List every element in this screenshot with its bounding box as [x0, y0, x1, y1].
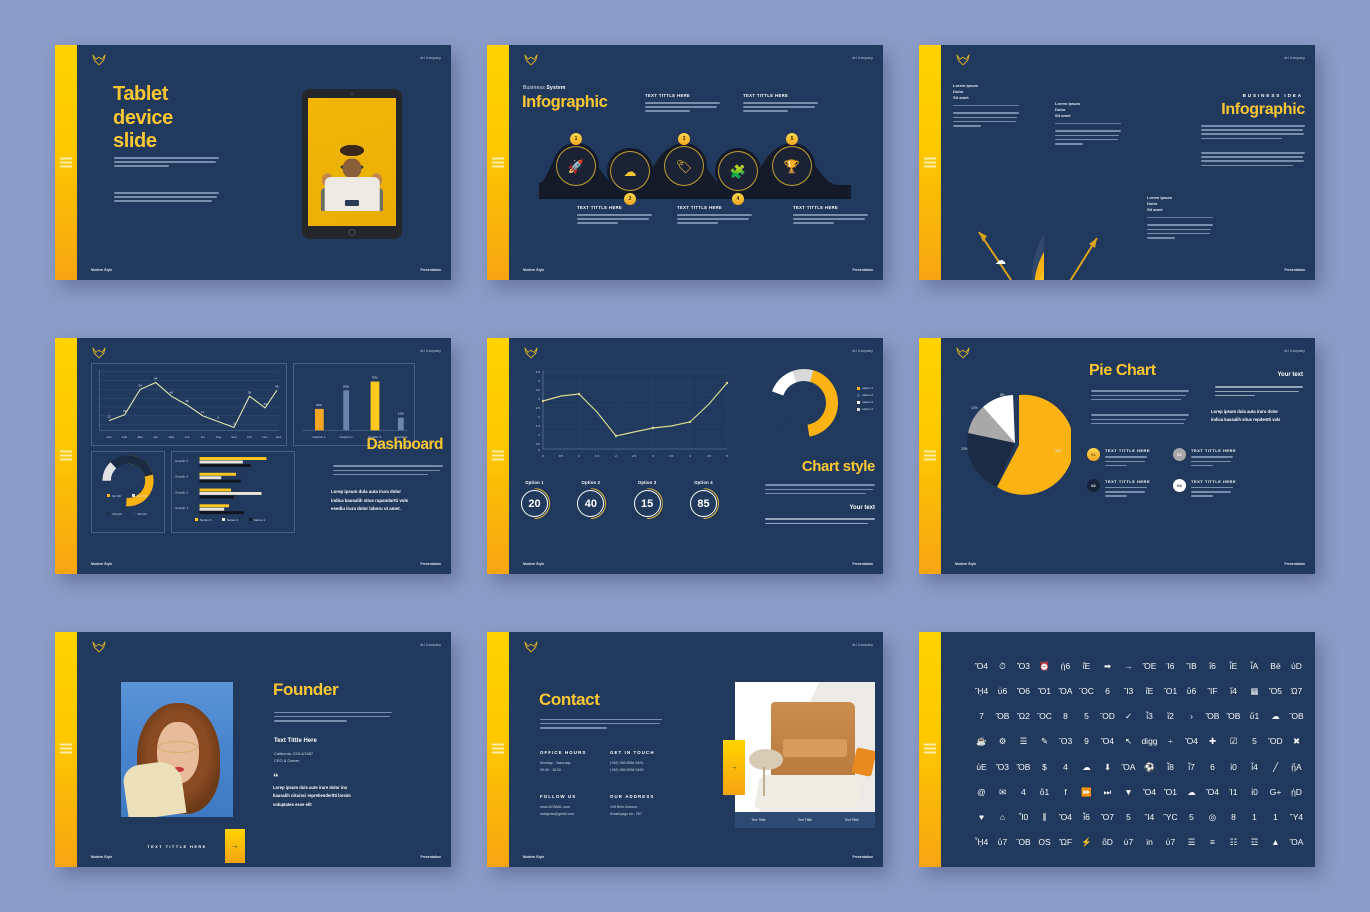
svg-text:23: 23 [263, 402, 267, 406]
slide-chart-style[interactable]: Art Company [487, 338, 883, 573]
badge-dark: 02 [1087, 479, 1100, 492]
app-window-icon[interactable]: Ὕ4 [1290, 813, 1303, 822]
badge-yellow: 01 [1087, 448, 1100, 461]
caption-top-1: TEXT TITTLE HERE [645, 93, 723, 115]
svg-text:Jul: Jul [201, 435, 205, 439]
node-number-1: 1 [570, 133, 582, 145]
ios-icon[interactable]: OS [1038, 838, 1050, 847]
image-mountain-icon[interactable]: Ἵ4 [1145, 813, 1155, 822]
label-block-2: Lorem ipsumDolorSit amet [1055, 101, 1121, 147]
coffee-cup-icon[interactable]: ☕ [976, 737, 987, 746]
download-file-icon[interactable]: ὎5 [1252, 737, 1257, 746]
globe-refresh-icon[interactable]: ἱ0 [1230, 763, 1237, 772]
hamburger-menu-icon[interactable] [924, 744, 936, 755]
wrench-icon[interactable]: ὒ7 [998, 838, 1007, 847]
pencil-icon[interactable]: ╱ [1273, 763, 1278, 772]
icon-library-grid[interactable]: Ὄ4⏱Ὄ3⏰ᾑ6ἴE➡→ὌEἹ6ἽBἵ6ἷEἷABēὐDᾛ4ὑ6Ὅ6Ὅ1ὍAὋC… [971, 654, 1307, 855]
chart-style-donut-chart [765, 364, 843, 442]
svg-text:0: 0 [542, 454, 544, 458]
note-file-icon[interactable]: Ὄ3 [996, 763, 1009, 772]
pie-item-1[interactable]: 01 TEXT TITTLE HERE [1087, 448, 1161, 469]
option-stat-3[interactable]: Option 3 15 [634, 480, 661, 517]
caption-title: TEXT TITTLE HERE [577, 205, 655, 210]
hamburger-menu-icon[interactable] [60, 450, 72, 461]
grid-blocks-icon[interactable]: ▦ [1250, 687, 1258, 696]
option-stats-row: Option 1 20 Option 2 40 Option 3 15 Opti… [521, 480, 717, 517]
ice-cream-icon[interactable]: ἶ6 [1083, 813, 1090, 822]
header-company: Art Company [852, 349, 873, 353]
open-book-icon[interactable]: Ὅ6 [1017, 687, 1030, 696]
list-ordered-icon[interactable]: ≡ [1210, 838, 1215, 847]
footer-right: Presentation [852, 268, 873, 272]
arrow-right-icon[interactable]: → [225, 829, 245, 863]
clipboard-file-icon[interactable]: ὌB [996, 712, 1010, 721]
clock-24h-icon[interactable]: ⏱ [999, 662, 1006, 671]
label-title: Lorem ipsumDolorSit amet [1055, 101, 1121, 118]
svg-text:May: May [169, 435, 175, 439]
document-icon[interactable]: Ὄ3 [1017, 662, 1030, 671]
thumbs-up-icon[interactable]: ὄD [1102, 838, 1113, 847]
svg-text:Dec: Dec [276, 435, 282, 439]
briefcase-icon[interactable]: ὋC [1079, 687, 1094, 696]
chain-link-icon[interactable]: ὑ7 [1166, 838, 1175, 847]
footer-right: Presentation [1284, 562, 1305, 566]
header-company: Art Company [1284, 56, 1305, 60]
svg-text:5: 5 [726, 454, 728, 458]
pdf-file-icon[interactable]: Ὄ4 [975, 662, 988, 671]
skip-forward-icon[interactable]: ⏭ [1104, 788, 1112, 797]
interior-sofa-photo [735, 682, 875, 812]
body-paragraph-1 [1201, 125, 1305, 142]
medical-file-icon[interactable]: ✚ [1209, 737, 1216, 746]
android-icon[interactable]: ᾑ6 [1061, 662, 1070, 671]
svg-text:4: 4 [538, 379, 540, 383]
gif-file-icon[interactable]: Ὄ4 [1206, 788, 1219, 797]
download-icon[interactable]: ⬇ [1104, 763, 1111, 772]
hamburger-menu-icon[interactable] [924, 157, 936, 168]
header-company: Art Company [1284, 349, 1305, 353]
layers-icon[interactable]: ⫼ [1043, 813, 1047, 822]
export-icon[interactable]: ὎4 [1021, 788, 1026, 797]
antelope-head-logo [523, 641, 539, 655]
founder-portrait-photo [121, 682, 233, 817]
dropbox-icon[interactable]: ὎6 [1210, 763, 1215, 772]
cherry-icon[interactable]: ἵ2 [1167, 712, 1174, 721]
facebook-icon[interactable]: f [1064, 788, 1066, 797]
contact-block-follow-us: FOLLOW US www.DOMAIL.com mailynda@gmail.… [540, 794, 600, 818]
caption-title: TEXT TITTLE HERE [677, 205, 755, 210]
instagram-icon[interactable]: ὏8 [1231, 813, 1236, 822]
home-icon[interactable]: ⌂ [1000, 813, 1005, 822]
monitor-icon[interactable]: ὚5 [1126, 813, 1131, 822]
footer-left: Modern Style [91, 562, 112, 566]
speech-bubble-icon[interactable]: ὊD [1100, 712, 1115, 721]
body-paragraph-2 [1201, 152, 1305, 169]
lightning-icon[interactable]: ⚡ [1081, 838, 1092, 847]
lightbulb-idea-icon[interactable]: Ὂ1 [1164, 687, 1177, 696]
pie-label-22: 22% [961, 447, 968, 451]
calculator-icon[interactable]: ὚9 [1084, 737, 1089, 746]
svg-text:2.5: 2.5 [632, 454, 637, 458]
alarm-clock-icon[interactable]: ⏰ [1039, 662, 1050, 671]
antelope-head-logo [91, 641, 107, 655]
footer-left: Modern Style [91, 855, 112, 859]
option-stat-4[interactable]: Option 4 85 [690, 480, 717, 517]
svg-text:45: 45 [170, 391, 174, 395]
sub-title: Text Tittle Here [274, 738, 317, 744]
slide-founder[interactable]: Art Company TEXT TITTLE HERE → Founder T… [55, 632, 451, 867]
contact-blocks: OFFICE HOURS Monday - Saturday 09.00 - 1… [540, 750, 670, 819]
divide-icon[interactable]: ÷ [1168, 737, 1173, 746]
dashboard-donut-chart: 1st Qtr 2nd Qtr 3rd Qtr 4th Qtr [91, 451, 165, 533]
award-badge-icon[interactable]: Ἱ6 [1167, 662, 1175, 671]
inbox-icon[interactable]: ὎5 [1189, 813, 1194, 822]
hamburger-menu-icon[interactable] [60, 157, 72, 168]
left-accent-bar [919, 338, 941, 573]
block-line: 109 Bnin Avenue, [610, 804, 670, 811]
tablet-screen [308, 98, 396, 226]
binoculars-icon[interactable]: ὐD [1291, 662, 1302, 671]
slide-dashboard[interactable]: Art Company 122354 [55, 338, 451, 573]
kicker-bold: System [546, 85, 565, 91]
ribbon-bookmark-icon[interactable]: Ὅ1 [1038, 687, 1051, 696]
house-icon[interactable]: Ἶ0 [1019, 813, 1029, 822]
svg-text:Nov: Nov [262, 435, 268, 439]
caption-title: TEXT TITTLE HERE [793, 205, 871, 210]
bank-icon[interactable]: ἽB [1186, 662, 1197, 671]
signature-file-icon[interactable]: ὍD [1268, 737, 1282, 746]
svg-text:0.5: 0.5 [559, 454, 564, 458]
id-card-icon[interactable]: Ὄ7 [1101, 813, 1114, 822]
page-title: Tablet device slide [113, 83, 173, 154]
sub-details: California, 03/14/1987 CEO & Owner [274, 750, 313, 765]
chef-hat-icon[interactable]: ἷ3 [1146, 712, 1153, 721]
body-paragraph-2 [765, 518, 875, 526]
chat-window-icon[interactable]: ὚5 [1084, 712, 1089, 721]
checklist-file-icon[interactable]: ☑ [1230, 737, 1238, 746]
handshake-icon[interactable]: ᾑD [1291, 788, 1302, 797]
martini-icon[interactable]: ἷ7 [1188, 763, 1195, 772]
option-value: 20 [521, 490, 548, 517]
cloud-download-icon[interactable]: ☁ [1082, 763, 1091, 772]
slide-icon-library[interactable]: Ὄ4⏱Ὄ3⏰ᾑ6ἴE➡→ὌEἹ6ἽBἵ6ἷEἷABēὐDᾛ4ὑ6Ὅ6Ὅ1ὍAὋC… [919, 632, 1315, 867]
calendar-icon[interactable]: Ὄ5 [1269, 687, 1282, 696]
svg-text:Jan: Jan [107, 435, 112, 439]
option-value: 15 [634, 490, 661, 517]
svg-text:9: 9 [217, 416, 219, 420]
tablet-home-button [349, 229, 356, 236]
footer-right: Presentation [1284, 268, 1305, 272]
bottle-icon[interactable]: ἷE [1230, 662, 1238, 671]
bookmark-icon[interactable]: ὑ6 [998, 687, 1007, 696]
hamburger-menu-icon[interactable] [492, 744, 504, 755]
folder-icon[interactable]: Ὄ1 [1164, 788, 1177, 797]
svg-text:3.5: 3.5 [669, 454, 674, 458]
highlight-text: Lorep ipsum dula auta irura dolorindica … [331, 488, 443, 513]
document-lines-icon[interactable]: Ὄ4 [1101, 737, 1114, 746]
clipboard-blank-icon[interactable]: ὌB [1227, 712, 1241, 721]
header-company: Art Company [852, 56, 873, 60]
block-line[interactable]: mailynda@gmail.com [540, 811, 600, 818]
pie-label-8: 8% [1000, 393, 1005, 397]
thumb-label[interactable]: Text Tittle [751, 818, 765, 822]
svg-text:Oct: Oct [247, 435, 252, 439]
page-title: Infographic [1221, 101, 1305, 119]
laptop-icon[interactable]: ὋB [1016, 838, 1030, 847]
sub-line-1: California, 03/14/1987 [274, 750, 313, 758]
antelope-head-logo [91, 347, 107, 361]
dollar-icon[interactable]: $ [1042, 763, 1047, 772]
item-title: TEXT TITTLE HERE [1191, 479, 1236, 484]
pie-item-3[interactable]: 02 TEXT TITTLE HERE [1087, 479, 1161, 500]
node-number-5: 5 [786, 133, 798, 145]
svg-text:17: 17 [201, 410, 205, 414]
html-file-icon[interactable]: Ὄ4 [1059, 813, 1072, 822]
box-icon[interactable]: ὎6 [1105, 687, 1110, 696]
item-title: TEXT TITTLE HERE [1191, 448, 1236, 453]
arrow-right-thin-icon[interactable]: → [1124, 662, 1133, 671]
svg-text:Graphic 2: Graphic 2 [340, 435, 353, 439]
slide-pie-chart[interactable]: Art Company 58% 22% 12% 8% Pie Chart [919, 338, 1315, 573]
edit-square-icon[interactable]: ✎ [1041, 737, 1048, 746]
svg-text:Graphic 3: Graphic 3 [175, 475, 189, 479]
book-pages-icon[interactable]: ὍA [1059, 687, 1073, 696]
trophy-icon: 🏆 [784, 160, 800, 173]
chat-bubbles-icon[interactable]: ὞8 [1063, 712, 1068, 721]
block-line[interactable]: (+62) 085 8998 3455 [610, 767, 670, 774]
list-dots-icon[interactable]: ☷ [1230, 838, 1238, 847]
left-accent-bar [487, 45, 509, 280]
pie-item-4[interactable]: 04 TEXT TITTLE HERE [1173, 479, 1247, 500]
photo-icon[interactable]: ὛC [1163, 813, 1177, 822]
record-icon[interactable]: ◎ [1209, 813, 1216, 822]
node-4[interactable]: 🧩 [718, 151, 758, 191]
heart-icon[interactable]: ♥ [979, 813, 984, 822]
slide-business-idea-infographic[interactable]: Art Company ☁ [919, 45, 1315, 280]
donut-legend: option 1 option 2 option 3 option 4 [857, 386, 879, 411]
svg-text:Graphic 4: Graphic 4 [175, 459, 189, 463]
svg-text:1: 1 [578, 454, 580, 458]
puzzle-icon: 🧩 [730, 165, 746, 178]
svg-text:Graphic 2: Graphic 2 [175, 491, 189, 495]
doc-file-icon[interactable]: Ὄ4 [1185, 737, 1198, 746]
badge-gray: 01 [1173, 448, 1186, 461]
footer-left: Modern Style [523, 268, 544, 272]
caption-bottom-1: TEXT TITTLE HERE [577, 205, 655, 227]
inbox-download-icon[interactable]: ὎4 [1063, 763, 1068, 772]
hamburger-menu-icon[interactable] [924, 450, 936, 461]
svg-text:Jun: Jun [185, 435, 190, 439]
eye-icon[interactable]: ὄ1 [1040, 788, 1049, 797]
side-highlight: Lorep ipsum dula auta iruro dolorindica … [1211, 408, 1303, 424]
bowling-pin-icon[interactable]: Ἳ3 [1124, 687, 1134, 696]
footer-left: Modern Style [523, 855, 544, 859]
chevron-right-icon[interactable]: › [1190, 712, 1193, 721]
behance-icon[interactable]: Bē [1270, 662, 1280, 671]
svg-text:Mar: Mar [138, 435, 143, 439]
slide-kicker: Business System [523, 85, 565, 91]
lightbulb-icon[interactable]: ὒ6 [1187, 687, 1196, 696]
pie-legend-items: 01 TEXT TITTLE HERE 01 TEXT TITTLE HERE [1087, 448, 1247, 499]
pdf-doc-icon[interactable]: Ὄ4 [1143, 788, 1156, 797]
envelope-file-icon[interactable]: ✉ [999, 788, 1006, 797]
pie-item-2[interactable]: 01 TEXT TITTLE HERE [1173, 448, 1247, 469]
header-company: Art Company [420, 56, 441, 60]
svg-text:3.5: 3.5 [536, 388, 541, 392]
left-accent-bar [55, 338, 77, 573]
block-line: Monday - Saturday [540, 760, 600, 767]
excel-file-icon[interactable]: ✖ [1293, 737, 1300, 746]
egg-icon[interactable]: ᾕA [1291, 763, 1301, 772]
block-heading: OUR ADDRESS [610, 794, 670, 799]
chat-bubble-icon[interactable]: ὊC [1037, 712, 1052, 721]
page-title: Chart style [802, 458, 875, 475]
dribbble-icon[interactable]: ⚽ [1144, 763, 1155, 772]
gift-icon[interactable]: Ἰ1 [1230, 788, 1238, 797]
body-paragraph-2 [1091, 414, 1189, 427]
svg-text:1: 1 [538, 433, 540, 437]
sub-line-2: CEO & Owner [274, 757, 313, 765]
block-line[interactable]: www.DOMAIL.com [540, 804, 600, 811]
svg-text:3: 3 [652, 454, 654, 458]
block-heading: FOLLOW US [540, 794, 600, 799]
page-title: Dashboard [367, 436, 443, 454]
svg-text:2: 2 [538, 415, 540, 419]
car-icon[interactable]: Ὡ7 [1291, 687, 1303, 696]
block-line: 09.00 - 18.00 [540, 767, 600, 774]
barbecue-icon[interactable]: ἵ6 [1209, 662, 1216, 671]
svg-text:22%: 22% [316, 403, 322, 407]
dashboard-bar-chart: 22%63% 75%12% Graphic 1Graphic 2 Graphic… [293, 363, 415, 446]
thumb-label[interactable]: Text Tittle [844, 818, 858, 822]
footer-right: Presentation [852, 562, 873, 566]
report-file-icon[interactable]: ὌB [1017, 763, 1031, 772]
node-number-3: 3 [678, 133, 690, 145]
left-accent-bar [919, 632, 941, 867]
arrow-right-icon[interactable]: → [723, 740, 745, 795]
antelope-head-logo [955, 54, 971, 68]
shopping-cart-icon[interactable]: Ὥ2 [1017, 712, 1030, 721]
perfume-bottle-icon[interactable]: ᾟ4 [975, 838, 988, 847]
option-stat-1[interactable]: Option 1 20 [521, 480, 548, 517]
photo-caption: TEXT TITTLE HERE [121, 837, 233, 857]
credit-card-icon[interactable]: Ὃ3 [1059, 737, 1072, 746]
smartphone-icon[interactable]: ὏1 [1273, 813, 1278, 822]
hamburger-menu-icon[interactable] [60, 744, 72, 755]
burger-icon[interactable]: ἵ4 [1230, 687, 1237, 696]
bread-icon[interactable]: ἵE [1146, 687, 1154, 696]
filter-icon[interactable]: ▼ [1124, 788, 1132, 797]
footer-left: Modern Style [523, 562, 544, 566]
svg-text:12%: 12% [398, 412, 404, 416]
list-lines-icon[interactable]: ☰ [1020, 737, 1028, 746]
lifebuoy-icon[interactable]: ὭF [1059, 838, 1072, 847]
body-paragraph-1 [765, 484, 875, 497]
header-company: Art Company [420, 643, 441, 647]
cloud-icon[interactable]: ☁ [1271, 712, 1280, 721]
item-title: TEXT TITTLE HERE [1105, 448, 1150, 453]
globe-icon[interactable]: ἱ0 [1251, 788, 1258, 797]
left-accent-bar [55, 632, 77, 867]
camera-icon[interactable]: ὏7 [979, 712, 984, 721]
left-accent-bar [487, 632, 509, 867]
check-icon[interactable]: ✓ [1125, 712, 1132, 721]
svg-text:45: 45 [275, 385, 279, 389]
option-stat-2[interactable]: Option 2 40 [577, 480, 604, 517]
node-number-2: 2 [624, 193, 636, 205]
code-window-icon[interactable]: ὋB [1289, 712, 1303, 721]
bar-chart-icon[interactable]: ὌA [1122, 763, 1136, 772]
block-heading: GET IN TOUCH [610, 750, 670, 755]
apple-icon[interactable]: ἴE [1083, 662, 1091, 671]
chart-bars-icon[interactable]: ὌA [1290, 838, 1304, 847]
block-line: Kutahiyago str., 287 [610, 811, 670, 818]
search-file-icon[interactable]: ὐE [976, 763, 986, 772]
node-1[interactable]: 🚀 [556, 146, 596, 186]
slide-deck-grid: Art Company Tablet device slide [0, 0, 1370, 912]
google-plus-icon[interactable]: G+ [1270, 788, 1282, 797]
at-sign-icon[interactable]: @ [977, 788, 986, 797]
target-icon[interactable]: ἺF [1207, 687, 1217, 696]
node-5[interactable]: 🏆 [772, 146, 812, 186]
donut-legend: 1st Qtr 2nd Qtr 3rd Qtr 4th Qtr [98, 484, 162, 520]
footer-left: Modern Style [955, 562, 976, 566]
link-icon[interactable]: ὑ7 [1124, 838, 1133, 847]
digg-icon[interactable]: digg [1141, 737, 1157, 746]
cocktail-icon[interactable]: ἷ8 [1167, 763, 1174, 772]
thumb-label[interactable]: Text Tittle [798, 818, 812, 822]
label-title: Lorem ipsumDolorSit amet [1147, 195, 1213, 212]
caption-title: TEXT TITTLE HERE [645, 93, 723, 98]
hamburger-menu-icon[interactable] [492, 450, 504, 461]
body-paragraph-2 [114, 192, 219, 205]
label-title: Lorem ipsumDolorSit amet [953, 83, 1019, 100]
fast-forward-icon[interactable]: ⏩ [1081, 788, 1092, 797]
svg-text:3: 3 [538, 397, 540, 401]
clipboard-icon[interactable]: ὌB [1206, 712, 1220, 721]
list-bullet-icon[interactable]: ☰ [1188, 838, 1196, 847]
beer-mug-icon[interactable]: ἷA [1251, 662, 1259, 671]
list-detail-icon[interactable]: ☲ [1251, 838, 1259, 847]
photo-thumbnail-bar: Text Tittle Text Tittle Text Tittle [735, 812, 875, 828]
bone-icon[interactable]: ᾛ4 [975, 687, 988, 696]
linkedin-icon[interactable]: in [1146, 838, 1153, 847]
antelope-head-logo [91, 54, 107, 68]
node-2[interactable]: ☁ [610, 151, 650, 191]
hamburger-menu-icon[interactable] [492, 157, 504, 168]
location-arrow-icon[interactable]: ▲ [1271, 838, 1279, 847]
arrow-right-bold-icon[interactable]: ➡ [1104, 662, 1111, 671]
upload-cloud-icon[interactable]: ☁ [1187, 788, 1196, 797]
slide-business-system-infographic[interactable]: Art Company Business System Infographic … [487, 45, 883, 280]
attachment-icon[interactable]: ὌE [1143, 662, 1157, 671]
svg-text:54: 54 [139, 384, 143, 388]
contact-block-our-address: OUR ADDRESS 109 Bnin Avenue, Kutahiyago … [610, 794, 670, 818]
slide-tablet-device[interactable]: Art Company Tablet device slide [55, 45, 451, 280]
footer-right: Presentation [420, 268, 441, 272]
node-number-4: 4 [732, 193, 744, 205]
gear-icon[interactable]: ⚙ [999, 737, 1007, 746]
cutlery-icon[interactable]: ἷ4 [1251, 763, 1258, 772]
slide-contact[interactable]: Art Company Contact OFFICE HOURS Monday … [487, 632, 883, 867]
contact-block-office-hours: OFFICE HOURS Monday - Saturday 09.00 - 1… [540, 750, 600, 774]
svg-text:64: 64 [154, 377, 158, 381]
clock-icon[interactable]: ὕ1 [1250, 712, 1259, 721]
cursor-icon[interactable]: ↖ [1125, 737, 1132, 746]
node-3[interactable]: 🏷 [664, 146, 704, 186]
block-line[interactable]: (+62) 085 8554 6491 [610, 760, 670, 767]
tablet-icon[interactable]: ὏1 [1252, 813, 1257, 822]
